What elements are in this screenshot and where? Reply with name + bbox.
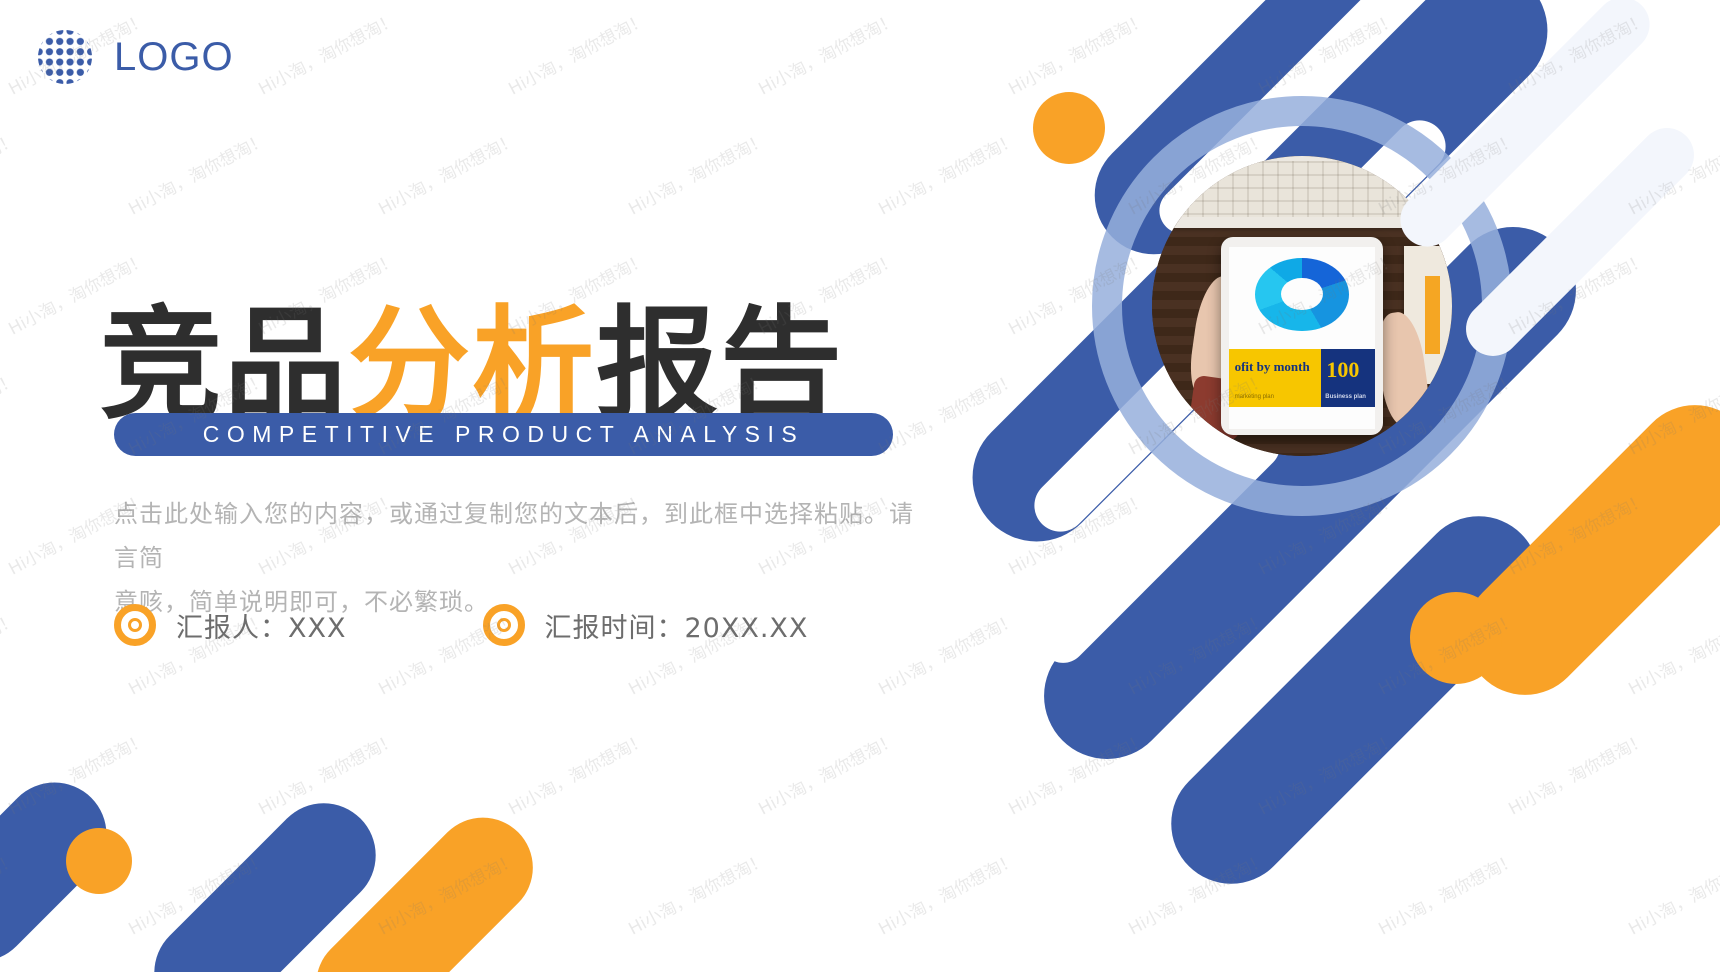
dotted-globe-icon xyxy=(34,26,96,88)
body-line-1: 点击此处输入您的内容，或通过复制您的文本后，到此框中选择粘贴。请言简 xyxy=(114,492,914,580)
meta-item-date: 汇报时间：20XX.XX xyxy=(483,604,809,646)
ring-icon xyxy=(114,604,156,646)
ring-icon xyxy=(483,604,525,646)
page-title: 竞品分析报告 xyxy=(100,304,844,426)
meta-label-date: 汇报时间：20XX.XX xyxy=(545,606,809,645)
slide-content: LOGO 竞品分析报告 COMPETITIVE PRODUCT ANALYSIS… xyxy=(0,0,1720,972)
subtitle-banner: COMPETITIVE PRODUCT ANALYSIS xyxy=(114,413,893,456)
meta-row: 汇报人：XXX 汇报时间：20XX.XX xyxy=(114,604,808,646)
subtitle-banner-text: COMPETITIVE PRODUCT ANALYSIS xyxy=(203,421,805,448)
meta-label-presenter: 汇报人：XXX xyxy=(176,606,347,645)
logo-text: LOGO xyxy=(114,35,234,80)
meta-item-presenter: 汇报人：XXX xyxy=(114,604,347,646)
presentation-slide: ofit by month marketing plan 100 Busines… xyxy=(0,0,1720,972)
logo-block[interactable]: LOGO xyxy=(34,26,234,88)
